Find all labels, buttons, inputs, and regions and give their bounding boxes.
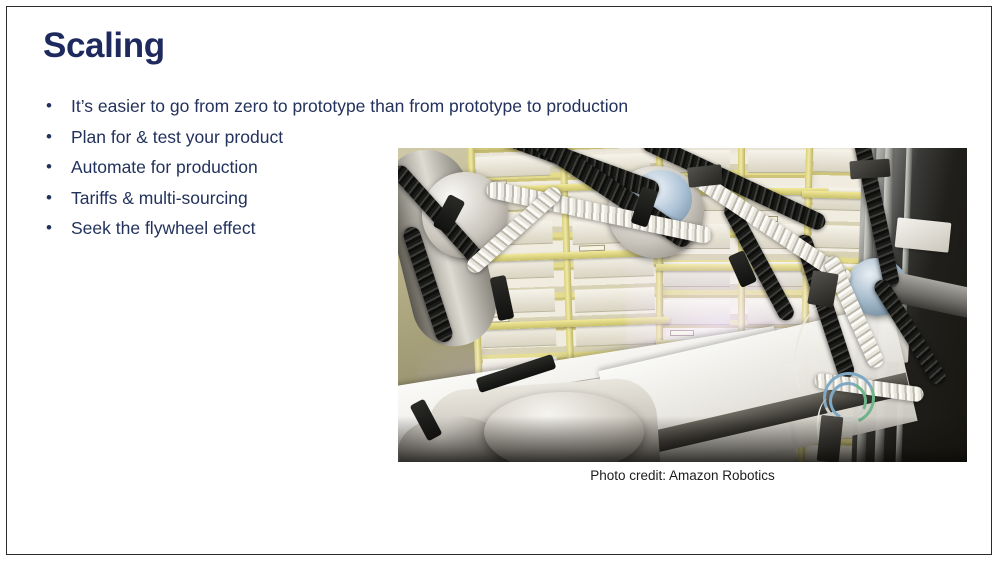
- photo-figure: Photo credit: Amazon Robotics: [398, 148, 967, 462]
- page-title: Scaling: [43, 27, 165, 66]
- slide-canvas: Scaling • It’s easier to go from zero to…: [6, 6, 992, 555]
- bullet-marker-icon: •: [39, 217, 71, 239]
- bullet-text: Plan for & test your product: [71, 126, 799, 148]
- list-item: • Plan for & test your product: [39, 126, 799, 148]
- bullet-marker-icon: •: [39, 156, 71, 178]
- photo-robot-arm: [398, 148, 967, 462]
- bullet-marker-icon: •: [39, 95, 71, 117]
- bullet-marker-icon: •: [39, 187, 71, 209]
- slide-viewport: Scaling • It’s easier to go from zero to…: [0, 0, 1000, 563]
- bullet-text: It’s easier to go from zero to prototype…: [71, 95, 799, 117]
- bullet-marker-icon: •: [39, 126, 71, 148]
- photo-credit-caption: Photo credit: Amazon Robotics: [398, 468, 967, 483]
- robot-arm-icon: [398, 148, 967, 462]
- list-item: • It’s easier to go from zero to prototy…: [39, 95, 799, 117]
